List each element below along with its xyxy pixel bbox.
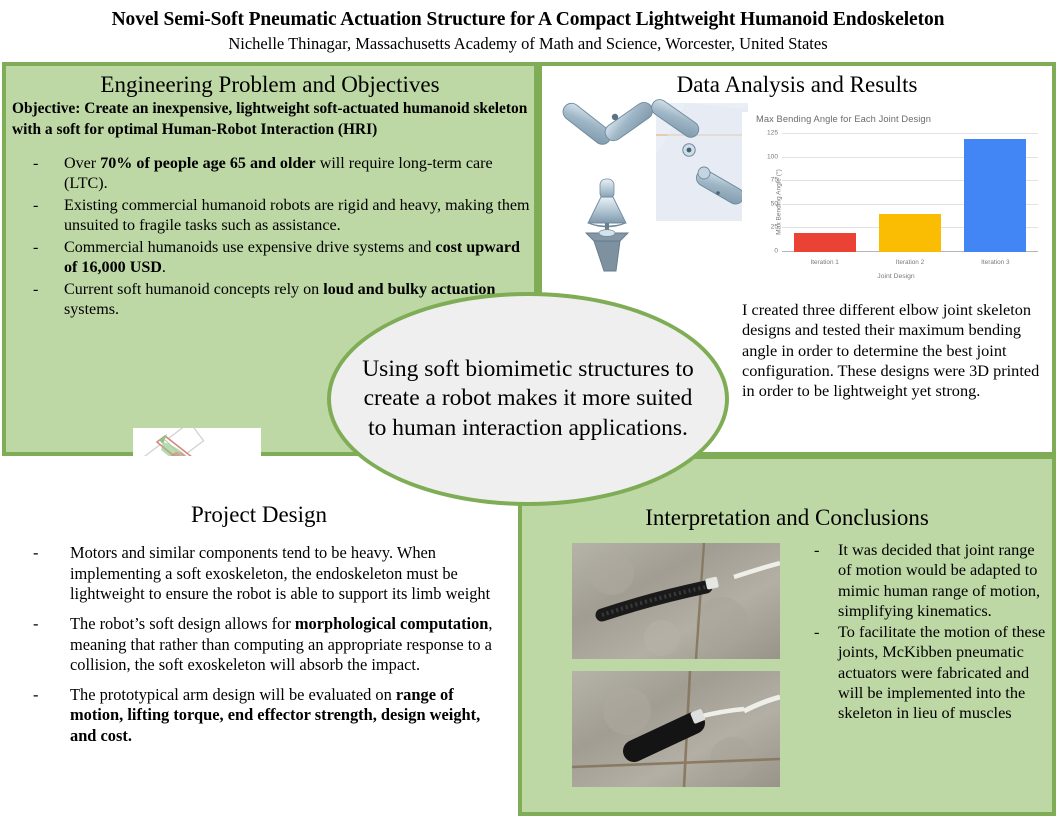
- elbow-joint-iteration-3-render: [648, 96, 748, 221]
- cad-render-group: [548, 95, 748, 275]
- bullet-dash: -: [33, 685, 38, 706]
- elbow-joint-iteration-2-render: [586, 179, 628, 271]
- chart-bar: [964, 139, 1026, 252]
- author-affiliation: Nichelle Thinagar, Massachusetts Academy…: [0, 34, 1056, 54]
- bullet-dash: -: [33, 196, 38, 216]
- problem-bullet-list: -Over 70% of people age 65 and older wil…: [6, 154, 534, 320]
- callout-text: Using soft biomimetic structures to crea…: [331, 355, 725, 442]
- chart-bar-slot: Iteration 1: [782, 134, 867, 252]
- key-finding-callout: Using soft biomimetic structures to crea…: [327, 292, 729, 506]
- conclusion-photo-group: [572, 543, 780, 801]
- data-analysis-caption: I created three different elbow joint sk…: [742, 300, 1048, 401]
- chart-y-tick: 50: [771, 200, 778, 207]
- bullet-text: Existing commercial humanoid robots are …: [64, 197, 530, 234]
- section-title-conclusions: Interpretation and Conclusions: [522, 505, 1052, 530]
- problem-bullet: -Over 70% of people age 65 and older wil…: [6, 154, 534, 194]
- bullet-dash: -: [33, 154, 38, 174]
- chart-bar-group: Iteration 1Iteration 2Iteration 3: [782, 134, 1038, 252]
- bullet-text: Motors and similar components tend to be…: [70, 543, 490, 603]
- chart-y-tick: 75: [771, 177, 778, 184]
- design-bullet: -Motors and similar components tend to b…: [0, 543, 518, 605]
- design-bullet: -The robot’s soft design allows for morp…: [0, 614, 518, 676]
- bullet-text: The prototypical arm design will be eval…: [70, 685, 480, 745]
- bending-angle-chart: Max Bending Angle for Each Joint Design …: [742, 112, 1050, 292]
- problem-bullet: -Existing commercial humanoid robots are…: [6, 196, 534, 236]
- bullet-text: Commercial humanoids use expensive drive…: [64, 239, 520, 276]
- conclusions-bullet-list: -It was decided that joint range of moti…: [796, 540, 1046, 725]
- bullet-dash: -: [814, 540, 819, 560]
- section-project-design: Project Design -Motors and similar compo…: [0, 456, 518, 816]
- bullet-text: It was decided that joint range of motio…: [838, 540, 1040, 620]
- bullet-dash: -: [33, 614, 38, 635]
- chart-bar-slot: Iteration 3: [953, 134, 1038, 252]
- chart-x-axis-label: Joint Design: [742, 273, 1050, 280]
- bullet-dash: -: [814, 622, 819, 642]
- bullet-text: The robot’s soft design allows for morph…: [70, 614, 493, 674]
- chart-x-tick: Iteration 3: [981, 259, 1009, 266]
- mckibben-actuator-contracted-photo: [572, 671, 780, 787]
- bullet-dash: -: [33, 238, 38, 258]
- chart-bar: [879, 214, 941, 252]
- problem-bullet: -Commercial humanoids use expensive driv…: [6, 238, 534, 278]
- page-title: Novel Semi-Soft Pneumatic Actuation Stru…: [0, 8, 1056, 31]
- chart-title: Max Bending Angle for Each Joint Design: [756, 114, 931, 124]
- chart-bar: [794, 233, 856, 252]
- bullet-dash: -: [33, 280, 38, 300]
- conclusion-bullet: -It was decided that joint range of moti…: [796, 540, 1046, 621]
- chart-plot-area: 0255075100125Iteration 1Iteration 2Itera…: [782, 134, 1038, 252]
- elbow-joint-iteration-1-render: [560, 99, 656, 148]
- design-bullet-list: -Motors and similar components tend to b…: [0, 543, 518, 746]
- chart-x-tick: Iteration 2: [896, 259, 924, 266]
- mckibben-actuator-extended-photo: [572, 543, 780, 659]
- section-title-engineering-problem: Engineering Problem and Objectives: [6, 72, 534, 97]
- chart-x-tick: Iteration 1: [810, 259, 838, 266]
- chart-bar-slot: Iteration 2: [867, 134, 952, 252]
- objective-statement: Objective: Create an inexpensive, lightw…: [12, 99, 528, 140]
- conclusion-bullet: -To facilitate the motion of these joint…: [796, 622, 1046, 723]
- chart-y-tick: 100: [767, 153, 778, 160]
- chart-y-tick: 0: [774, 248, 778, 255]
- bullet-text: Over 70% of people age 65 and older will…: [64, 155, 493, 192]
- chart-y-tick: 25: [771, 224, 778, 231]
- poster-canvas: Novel Semi-Soft Pneumatic Actuation Stru…: [0, 0, 1056, 816]
- chart-y-tick: 125: [767, 130, 778, 137]
- design-bullet: -The prototypical arm design will be eva…: [0, 685, 518, 747]
- bullet-dash: -: [33, 543, 38, 564]
- section-title-project-design: Project Design: [0, 502, 518, 527]
- section-title-data-analysis: Data Analysis and Results: [542, 72, 1052, 97]
- bullet-text: To facilitate the motion of these joints…: [838, 622, 1045, 722]
- poster-header: Novel Semi-Soft Pneumatic Actuation Stru…: [0, 0, 1056, 60]
